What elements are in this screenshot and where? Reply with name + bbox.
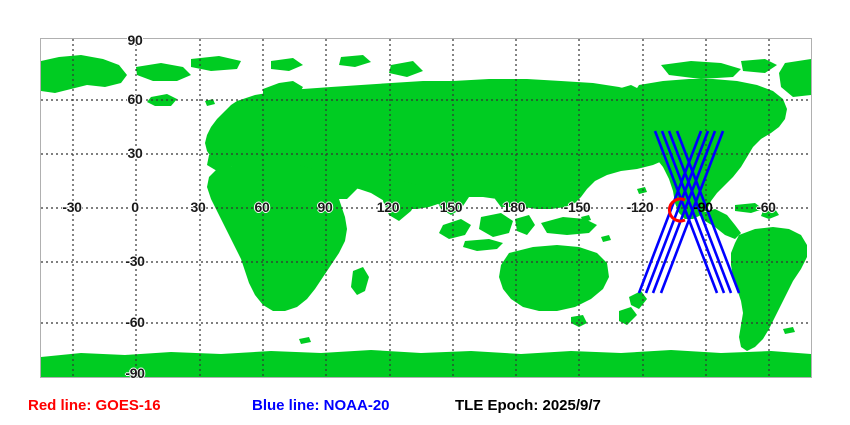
land-antarctica (41, 350, 811, 377)
land-novaya (389, 61, 423, 77)
land-arctic-islands-b (191, 56, 241, 71)
land-island-southern (299, 337, 311, 344)
land-island-pacific-a (601, 235, 611, 242)
satellite-tracking-figure: 90 60 30 0 -30 -60 -90 -30 0 30 60 90 12… (0, 0, 850, 425)
land-franz (339, 55, 371, 67)
land-canada-arctic (661, 61, 741, 79)
land-island-hawaii (637, 187, 647, 194)
legend-blue-line-noaa20: Blue line: NOAA-20 (252, 396, 390, 416)
land-svalbard (271, 58, 303, 71)
world-map-svg (41, 39, 811, 377)
legend-red-line-goes16: Red line: GOES-16 (28, 396, 161, 416)
land-sulawesi (515, 215, 535, 235)
land-hispaniola (761, 209, 779, 219)
land-arctic-islands-a (136, 63, 191, 81)
land-newzealand-s (619, 307, 637, 325)
legend-tle-epoch: TLE Epoch: 2025/9/7 (455, 396, 601, 416)
land-island-falklands (783, 327, 795, 334)
legend-row: Red line: GOES-16 Blue line: NOAA-20 TLE… (0, 396, 850, 420)
land-borneo (479, 213, 513, 237)
land-sumatra (439, 219, 471, 239)
land-madagascar (351, 267, 369, 295)
land-greenland-right (779, 59, 811, 97)
land-newzealand-n (629, 291, 647, 309)
land-india (383, 181, 419, 221)
land-central-america (701, 209, 741, 239)
land-cuba (735, 203, 763, 213)
land-hudson-islands (741, 59, 777, 73)
land-greenland (41, 55, 127, 93)
map-plot-area (40, 38, 812, 378)
land-java (463, 239, 503, 251)
